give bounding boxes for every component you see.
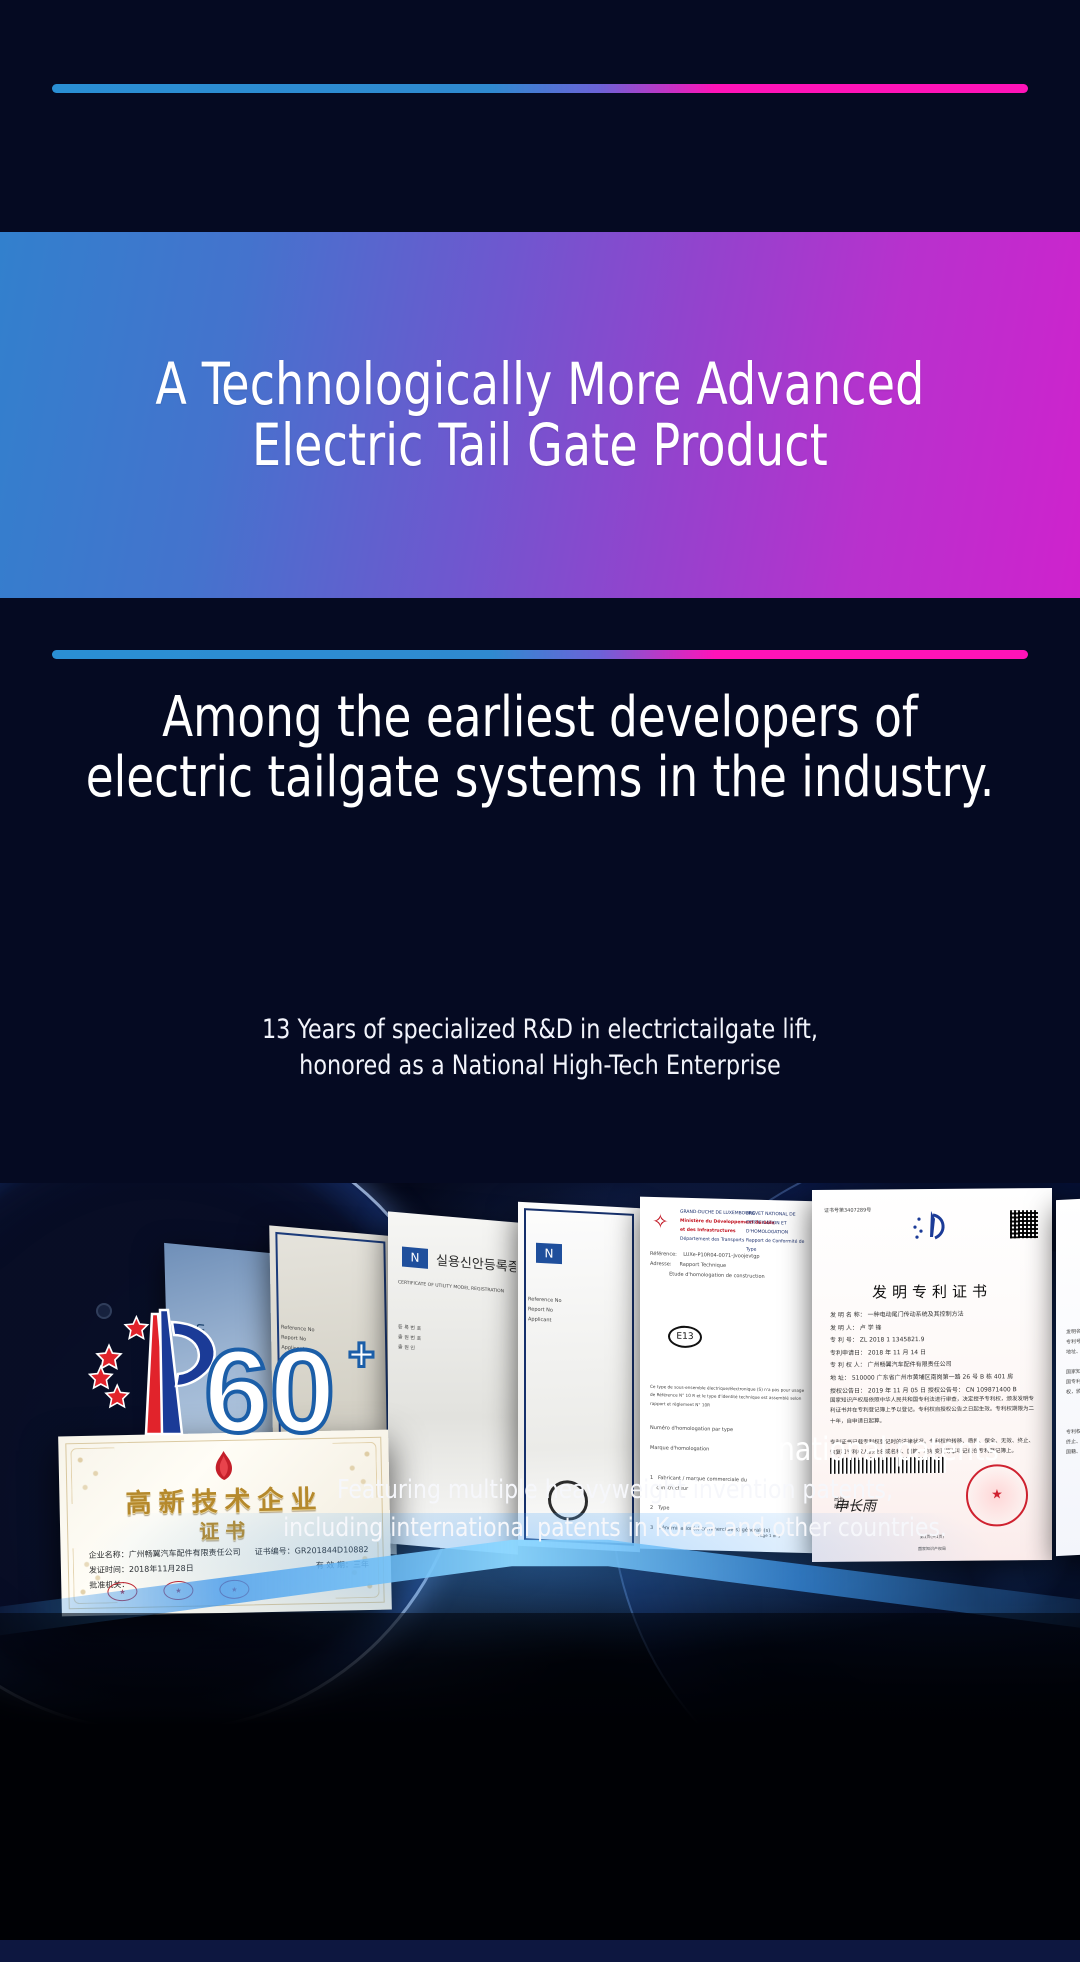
footer-band (0, 1940, 1080, 1962)
patents-title: 60+ national patents (397, 1430, 999, 1468)
patent-certificate-title: 发明专利证书 (812, 1280, 1052, 1303)
patents-description: Featuring multiple heavyweight invention… (197, 1472, 1034, 1547)
patent-field: 地 址： 510000 广东省广州市黄埔区南岗第一路 26 号 B 栋 401 … (830, 1371, 1034, 1385)
certificate-mini-text: 등 록 번 호출 원 번 호출 원 인 (398, 1322, 508, 1362)
lion-emblem-icon: ✧ (652, 1209, 669, 1234)
divider-middle (52, 650, 1028, 659)
certificate-right-1: ★ 证书 发明名称、实用新型专利证书，专利号、申请日、专利权人、地址、发明人等。… (1056, 1194, 1080, 1556)
certificate-mini-text: Reference NoReport NoApplicant (528, 1294, 630, 1329)
sub-copy: 13 Years of specialized R&D in electrict… (43, 1012, 1037, 1083)
certificate-mini-text: Ce type de sous-ensemble électrique/élec… (650, 1383, 810, 1412)
certificate-mini-text: BREVET NATIONAL DECERTIFICATION ET D'HOM… (746, 1209, 810, 1256)
certificate-mini-text: Référence: LUXe-P10R04-0071-Jvoojevtgp A… (650, 1249, 810, 1283)
certificate-mini-text: 发明名称、实用新型专利证书，专利号、申请日、专利权人、地址、发明人等。 国家知识… (1066, 1322, 1080, 1397)
certificate-collage-photo: ration Reference NoReport NoApplicant N … (0, 1183, 1080, 1962)
divider-top (52, 84, 1028, 93)
patent-emblem-icon (909, 1207, 955, 1262)
brand-logo: 60 + (86, 1302, 406, 1472)
lower-fade-overlay (0, 1613, 1080, 1962)
e-mark-badge: E13 (668, 1325, 702, 1348)
main-statement: Among the earliest developers of electri… (54, 688, 1026, 809)
certificate-mini-text: CERTIFICATE OF UTILITY MODEL REGISTRATIO… (398, 1278, 508, 1297)
hero-title: A Technologically More Advanced Electric… (155, 354, 924, 476)
korean-certificate-title: 실용신안등록증 (436, 1250, 516, 1276)
logo-count: 60 (204, 1326, 335, 1458)
patent-fields: 发 明 名 称： 一种电动尾门传动系统及其控制方法 发 明 人： 卢 学 锋 专… (830, 1308, 1034, 1398)
hero-banner: A Technologically More Advanced Electric… (0, 232, 1080, 598)
qr-code-icon (1010, 1210, 1038, 1238)
certificate-label: 证书 (1056, 1250, 1080, 1275)
certificate-number: 证书号第3407289号 (824, 1205, 914, 1216)
promo-page: A Technologically More Advanced Electric… (0, 0, 1080, 1962)
logo-plus: + (348, 1328, 375, 1380)
certificate-mini-text: 专利权、质押、保全、无效、终止、恢复和专利权人的姓名、国籍、地址变更等事项。 (1066, 1422, 1080, 1457)
